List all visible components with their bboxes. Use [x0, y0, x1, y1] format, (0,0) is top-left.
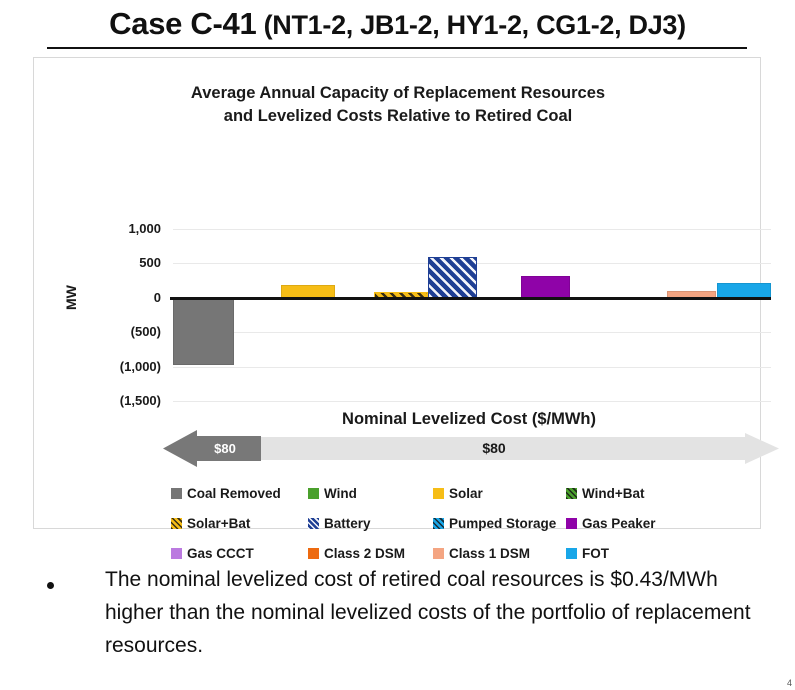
page-title: Case C-41 (NT1-2, JB1-2, HY1-2, CG1-2, D… — [0, 6, 795, 42]
legend-label: FOT — [582, 547, 609, 560]
legend-swatch-icon — [433, 518, 444, 529]
legend-swatch-icon — [308, 548, 319, 559]
legend-swatch-icon — [433, 548, 444, 559]
chart-title: Average Annual Capacity of Replacement R… — [34, 82, 762, 128]
legend-label: Wind+Bat — [582, 487, 645, 500]
chart-card: Average Annual Capacity of Replacement R… — [33, 57, 761, 529]
legend-swatch-icon — [566, 518, 577, 529]
legend-swatch-icon — [433, 488, 444, 499]
right-arrow-value: $80 — [229, 440, 759, 456]
legend-swatch-icon — [308, 518, 319, 529]
y-axis-tick-label: 500 — [71, 255, 161, 270]
legend-label: Gas Peaker — [582, 517, 656, 530]
bar-coal-removed — [173, 298, 234, 365]
cost-band-title: Nominal Levelized Cost ($/MWh) — [159, 410, 779, 429]
legend-swatch-icon — [566, 488, 577, 499]
legend-item-fot[interactable]: FOT — [566, 547, 609, 560]
legend-label: Solar — [449, 487, 483, 500]
legend-label: Class 2 DSM — [324, 547, 405, 560]
legend-item-battery[interactable]: Battery — [308, 517, 371, 530]
legend-swatch-icon — [171, 488, 182, 499]
y-axis-tick-label: (1,500) — [71, 393, 161, 408]
legend-label: Pumped Storage — [449, 517, 556, 530]
y-axis-tick-label: 1,000 — [71, 221, 161, 236]
legend-swatch-icon — [308, 488, 319, 499]
legend-item-class-2-dsm[interactable]: Class 2 DSM — [308, 547, 405, 560]
legend-item-gas-ccct[interactable]: Gas CCCT — [171, 547, 254, 560]
legend-item-gas-peaker[interactable]: Gas Peaker — [566, 517, 656, 530]
gridline — [173, 367, 771, 368]
plot-area — [173, 229, 771, 401]
legend-swatch-icon — [171, 548, 182, 559]
legend-label: Gas CCCT — [187, 547, 254, 560]
bullet-text: The nominal levelized cost of retired co… — [105, 563, 765, 662]
chart-title-line-2: and Levelized Costs Relative to Retired … — [34, 105, 762, 128]
y-axis-tick-label: (1,000) — [71, 359, 161, 374]
legend-label: Wind — [324, 487, 357, 500]
cost-band: Nominal Levelized Cost ($/MWh) $80 $80 — [159, 410, 779, 470]
legend-item-pumped-storage[interactable]: Pumped Storage — [433, 517, 556, 530]
page-title-detail: (NT1-2, JB1-2, HY1-2, CG1-2, DJ3) — [256, 10, 685, 40]
legend-label: Coal Removed — [187, 487, 281, 500]
y-axis-tick-label: (500) — [71, 324, 161, 339]
legend-row: Solar+BatBatteryPumped StorageGas Peaker — [171, 517, 771, 547]
zero-axis-line — [170, 297, 771, 300]
page-title-main: Case C-41 — [109, 6, 256, 41]
bar-gas-peaker — [521, 276, 570, 298]
legend-label: Class 1 DSM — [449, 547, 530, 560]
legend-swatch-icon — [566, 548, 577, 559]
legend-label: Solar+Bat — [187, 517, 250, 530]
legend-label: Battery — [324, 517, 371, 530]
bar-fot — [717, 283, 771, 298]
legend-item-solar-bat[interactable]: Solar+Bat — [171, 517, 250, 530]
legend-item-coal-removed[interactable]: Coal Removed — [171, 487, 281, 500]
legend-item-wind[interactable]: Wind — [308, 487, 357, 500]
bar-battery — [428, 257, 477, 298]
legend-item-class-1-dsm[interactable]: Class 1 DSM — [433, 547, 530, 560]
legend-item-solar[interactable]: Solar — [433, 487, 483, 500]
legend-item-wind-bat[interactable]: Wind+Bat — [566, 487, 645, 500]
chart-title-line-1: Average Annual Capacity of Replacement R… — [34, 82, 762, 105]
title-underline — [47, 47, 747, 49]
legend-row: Coal RemovedWindSolarWind+Bat — [171, 487, 771, 517]
bar-solar — [281, 285, 335, 298]
bullet-dot-icon — [47, 582, 54, 589]
gridline — [173, 229, 771, 230]
gridline — [173, 401, 771, 402]
left-arrow-value: $80 — [193, 441, 257, 456]
y-axis-tick-label: 0 — [71, 290, 161, 305]
gridline — [173, 332, 771, 333]
slide-number: 4 — [787, 678, 792, 688]
legend-swatch-icon — [171, 518, 182, 529]
